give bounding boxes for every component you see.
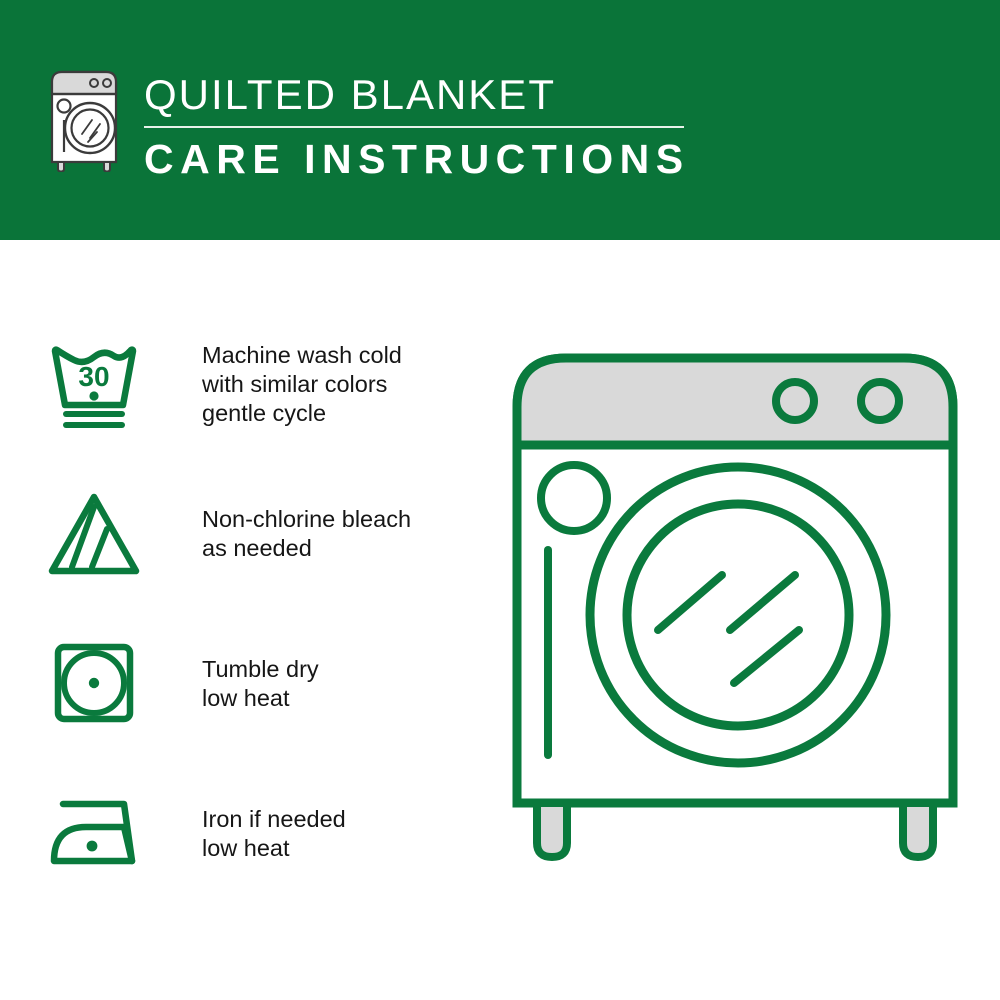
page-title-secondary: CARE INSTRUCTIONS <box>144 136 690 182</box>
page-title-primary: QUILTED BLANKET <box>144 72 690 118</box>
care-item-machine-wash: 30 Machine wash cold with similar colors… <box>44 335 474 485</box>
iron-icon <box>44 785 154 885</box>
care-item-bleach: Non-chlorine bleach as needed <box>44 485 474 635</box>
care-item-text: Machine wash cold with similar colors ge… <box>202 335 402 428</box>
care-item-text: Iron if needed low heat <box>202 785 346 863</box>
wash-temperature-label: 30 <box>78 361 109 392</box>
wash-tub-30-icon: 30 <box>44 335 154 435</box>
care-item-iron: Iron if needed low heat <box>44 785 474 935</box>
tumble-dry-icon <box>44 635 154 735</box>
care-item-text: Non-chlorine bleach as needed <box>202 485 411 563</box>
care-instructions-page: QUILTED BLANKET CARE INSTRUCTIONS 30 <box>0 0 1000 1000</box>
care-item-tumble-dry: Tumble dry low heat <box>44 635 474 785</box>
header-content: QUILTED BLANKET CARE INSTRUCTIONS <box>44 68 690 182</box>
care-item-text: Tumble dry low heat <box>202 635 319 713</box>
header-title-block: QUILTED BLANKET CARE INSTRUCTIONS <box>144 68 690 182</box>
washing-machine-logo-icon <box>44 68 128 172</box>
title-divider <box>144 126 684 128</box>
body-area: 30 Machine wash cold with similar colors… <box>0 240 1000 1000</box>
washing-machine-illustration <box>490 335 980 955</box>
care-instructions-list: 30 Machine wash cold with similar colors… <box>44 335 474 935</box>
bleach-triangle-icon <box>44 485 154 585</box>
header-band: QUILTED BLANKET CARE INSTRUCTIONS <box>0 0 1000 240</box>
